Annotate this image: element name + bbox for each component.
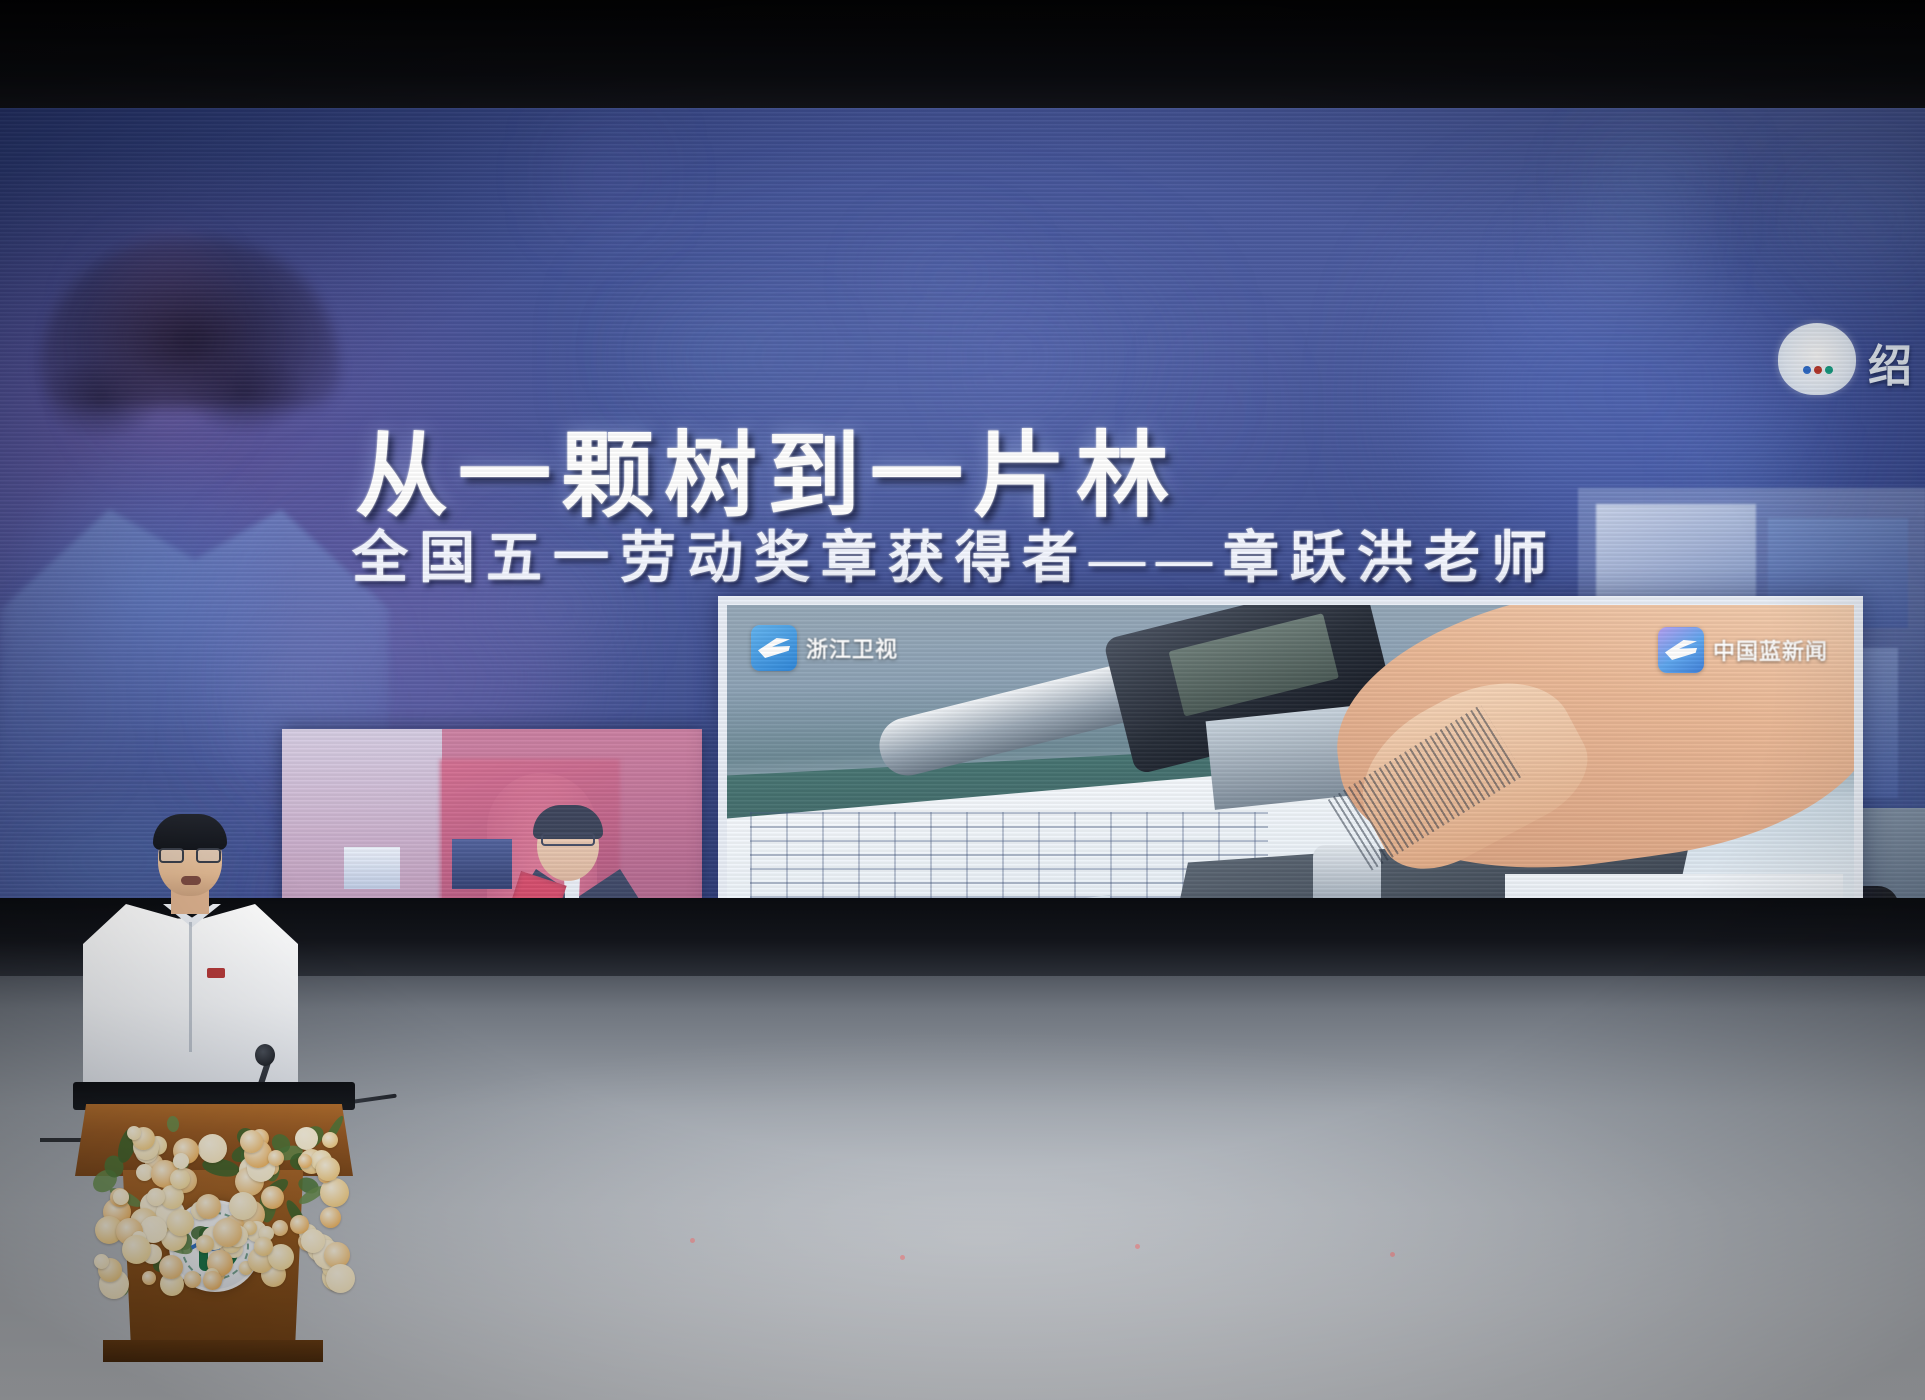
flower-blossom <box>127 1126 141 1140</box>
flower-blossom <box>122 1235 151 1264</box>
china-blue-news-label: 中国蓝新闻 <box>1713 634 1828 666</box>
lectern-base <box>103 1340 323 1362</box>
speaker-hair <box>153 814 227 850</box>
award-photo-banner <box>440 759 620 898</box>
flower-blossom <box>184 1271 201 1288</box>
recipient-head <box>537 811 599 881</box>
cloud-emblem-icon <box>1778 323 1856 395</box>
floor-marker-dot <box>1135 1244 1140 1249</box>
flower-blossom <box>213 1218 242 1247</box>
flower-blossom <box>229 1192 257 1220</box>
floor-marker-dot <box>900 1255 905 1260</box>
emblem-disc <box>1778 323 1856 395</box>
flower-blossom <box>326 1264 355 1293</box>
flower-blossom <box>170 1169 190 1189</box>
microphone-head-icon <box>255 1044 275 1066</box>
flower-blossom <box>196 1194 221 1219</box>
video-machine-panel <box>1505 874 1843 898</box>
flower-blossom <box>322 1132 338 1148</box>
speaker-mouth <box>181 876 201 885</box>
recipient-hair <box>533 805 603 839</box>
flower-blossom <box>320 1207 341 1228</box>
flower-blossom <box>316 1157 340 1181</box>
screen-light-speck <box>1603 126 1719 226</box>
floral-arrangement <box>83 1118 345 1288</box>
flower-blossom <box>113 1189 129 1205</box>
recipient-glasses <box>541 833 595 846</box>
flower-blossom <box>301 1229 325 1253</box>
screen-light-speck <box>1781 161 1925 270</box>
video-inset-frame: 浙江卫视 中国蓝新闻 0.001毫米在我们日常生活当中 <box>718 596 1863 898</box>
screen-light-speck <box>568 125 644 224</box>
screen-light-speck <box>1799 180 1925 284</box>
speaker-at-podium <box>55 800 355 1360</box>
background-portrait-image <box>0 168 410 728</box>
flower-blossom <box>261 1186 284 1209</box>
flower-blossom <box>198 1134 227 1163</box>
ceiling-band <box>0 0 1925 108</box>
flower-blossom <box>254 1237 273 1256</box>
flower-blossom <box>167 1209 194 1236</box>
zhejiang-tv-label: 浙江卫视 <box>806 632 898 664</box>
flower-blossom <box>159 1255 183 1279</box>
flower-blossom <box>173 1153 189 1169</box>
flower-blossom <box>147 1188 165 1206</box>
flower-blossom <box>240 1130 263 1153</box>
corner-logo-text: 绍 <box>1868 330 1914 394</box>
flower-blossom <box>94 1254 109 1269</box>
emblem-dots <box>1798 363 1838 377</box>
foliage-leaf <box>166 1116 179 1133</box>
flower-blossom <box>298 1154 312 1168</box>
screen-light-speck <box>1184 338 1255 490</box>
china-blue-mark-icon <box>1658 627 1704 673</box>
video-inset-content: 浙江卫视 中国蓝新闻 0.001毫米在我们日常生活当中 <box>727 605 1854 898</box>
portrait-hair <box>40 238 340 408</box>
flower-blossom <box>272 1220 288 1236</box>
slide-subtitle: 全国五一劳动奖章获得者——章跃洪老师 <box>352 513 1558 594</box>
flower-blossom <box>142 1271 156 1285</box>
china-blue-news-logo-icon: 中国蓝新闻 <box>1658 627 1828 673</box>
floor-marker-dot <box>690 1238 695 1243</box>
speaker-shirt-placket <box>189 922 192 1052</box>
award-photo-arch <box>487 773 597 898</box>
award-recipient-figure: 全国五一劳动奖章 <box>497 807 657 898</box>
flower-blossom <box>203 1271 222 1290</box>
speaker-glasses-icon <box>159 848 221 863</box>
recipient-shirt <box>551 869 593 898</box>
flower-blossom <box>295 1127 318 1150</box>
speaker-lapel-badge <box>207 968 225 978</box>
flower-blossom <box>268 1150 284 1166</box>
floor-marker-dot <box>1390 1252 1395 1257</box>
flower-blossom <box>196 1235 214 1253</box>
recipient-sash: 全国五一劳动奖章 <box>456 871 567 898</box>
zhejiang-tv-logo-icon: 浙江卫视 <box>751 625 898 671</box>
award-photo-panel-right <box>452 839 512 889</box>
led-screen: 绍 从一颗树到一片林 全国五一劳动奖章获得者——章跃洪老师 全国五一劳动奖章 <box>0 108 1925 898</box>
zhejiang-tv-mark-icon <box>751 625 797 671</box>
recipient-suit <box>503 869 653 898</box>
stage-photo: 绍 从一颗树到一片林 全国五一劳动奖章获得者——章跃洪老师 全国五一劳动奖章 <box>0 0 1925 1400</box>
